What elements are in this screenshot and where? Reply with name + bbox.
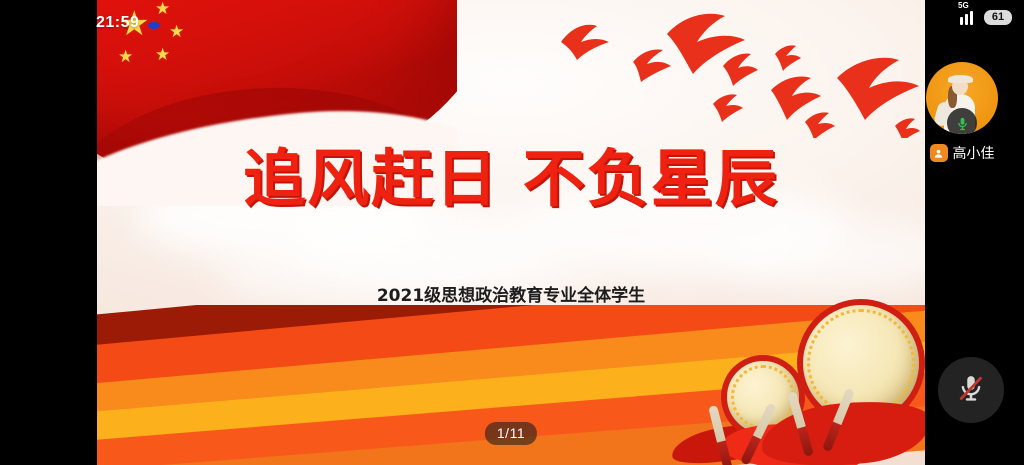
- slide-title: 追风赶日 不负星辰: [97, 128, 925, 218]
- camera-punch-hole-icon: [148, 22, 160, 29]
- mute-button[interactable]: [938, 357, 1004, 423]
- flag-star-small: ★: [169, 23, 184, 40]
- microphone-active-icon: [947, 108, 977, 134]
- avatar[interactable]: [926, 62, 998, 134]
- meeting-screen: ★ ★ ★ ★ ★: [0, 0, 1024, 465]
- participant-tile[interactable]: 高小佳: [912, 62, 1012, 163]
- flag-star-small: ★: [118, 48, 133, 65]
- flying-birds-icon: [537, 8, 925, 138]
- network-type-label: 5G: [958, 1, 969, 10]
- person-badge-icon: [930, 144, 948, 162]
- chinese-drums-icon: [681, 275, 925, 465]
- participant-name: 高小佳: [953, 143, 995, 163]
- flag-star-small: ★: [155, 46, 170, 63]
- status-bar-right: 5G 61: [960, 10, 1012, 25]
- page-indicator: 1/11: [485, 422, 537, 445]
- microphone-muted-icon: [956, 373, 986, 408]
- presentation-slide[interactable]: ★ ★ ★ ★ ★: [97, 0, 925, 465]
- battery-level-badge: 61: [984, 10, 1012, 25]
- participant-name-row: 高小佳: [912, 143, 1012, 163]
- signal-bars-icon: 5G: [960, 10, 978, 25]
- flag-star-small: ★: [155, 0, 170, 17]
- status-bar-clock: 21:59: [96, 14, 139, 32]
